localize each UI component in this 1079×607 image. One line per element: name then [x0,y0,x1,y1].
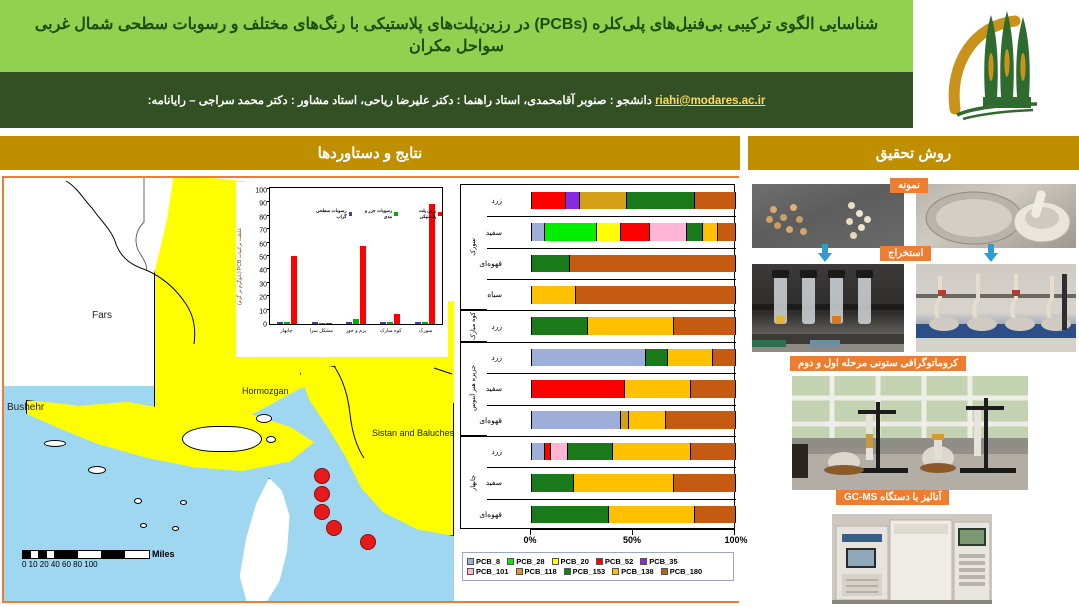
island-small-5 [134,498,142,504]
legend-label: رسوبات جزر و مدی [358,208,392,220]
stack-segment [570,255,736,273]
island-small-4 [44,440,66,447]
legend-label: PCB_153 [573,567,606,576]
barchart-plot-area: رزین پلت پلاستیکی رسوبات جزر و مدی رسوبا… [269,187,443,325]
stack-bar[interactable] [531,380,736,398]
land-qeshm-island [182,426,262,452]
ytick: 100 [255,188,267,195]
legend-label: رسوبات سطحی گراب [308,208,347,220]
method-panel: نمونه استخراج [748,176,1079,607]
stack-segment [531,349,646,367]
stack-segment [531,380,625,398]
stack-bar[interactable] [531,223,736,241]
stack-segment [650,223,687,241]
island-small-8 [172,526,179,531]
stack-row-separator [487,405,736,406]
legend-item: PCB_28 [507,557,544,566]
stack-bar[interactable] [531,192,736,210]
stack-segment [531,443,545,461]
stack-segment [580,192,627,210]
legend-item: رسوبات جزر و مدی [358,208,398,220]
flow-arrow-2 [984,244,998,262]
step-label-sample: نمونه [890,178,928,193]
stack-bar[interactable] [531,443,736,461]
legend-item: رسوبات سطحی گراب [308,208,352,220]
stack-row-label-text: قهوه‌ای [479,416,502,425]
stack-row-label-text: سیاه [487,290,502,299]
stack-row-separator [487,216,736,217]
column-chromatography-photo [792,376,1028,490]
barchart-y-ticks: 100 90 80 70 60 50 40 30 20 10 0 [245,187,267,325]
stack-row-label-text: قهوه‌ای [479,510,502,519]
stack-segment [597,223,622,241]
authors-line: riahi@modares.ac.ir دانشجو : صنوبر آقامح… [128,93,786,107]
university-logo [913,0,1079,128]
legend-item: PCB_52 [596,557,633,566]
resin-pellets-photo [752,184,904,248]
stack-row-label: سفید [461,373,505,404]
stack-row-separator [487,499,736,500]
legend-label: PCB_8 [476,557,500,566]
tarbiat-modares-logo-icon [941,5,1051,123]
title-banner: شناسایی الگوی ترکیبی بی‌فنیل‌های پلی‌کلر… [0,0,913,72]
stack-row-label-text: زرد [491,322,502,331]
stack-row-label: زرد [461,436,505,467]
stack-segment [718,223,736,241]
map-label-bushehr: Bushehr [7,402,44,413]
stack-segment [695,192,736,210]
xtick-label: سورک [408,329,443,335]
gc-ms-instrument-photo [832,514,992,604]
gcms-overlay [832,514,992,604]
ytick: 80 [259,214,267,221]
map-scale-bar: Miles 0 10 20 40 60 80 100 [22,550,162,569]
stack-row-label-text: سفید [486,384,502,393]
stack-bar[interactable] [531,506,736,524]
stack-row-label: زرد [461,185,505,216]
stack-segment [566,192,580,210]
stack-segment [531,411,621,429]
stack-row-label-text: زرد [491,353,502,362]
stack-segment [609,506,695,524]
ytick: 30 [259,281,267,288]
scale-unit-label: Miles [152,549,175,559]
xtick-label: 0% [523,535,536,545]
page-title: شناسایی الگوی ترکیبی بی‌فنیل‌های پلی‌کلر… [0,14,913,57]
ytick: 60 [259,241,267,248]
scale-segments [22,550,150,559]
poster-header: شناسایی الگوی ترکیبی بی‌فنیل‌های پلی‌کلر… [0,0,1079,128]
island-small-3 [88,466,106,474]
stack-segment [531,255,570,273]
legend-item: PCB_35 [640,557,677,566]
stack-bar[interactable] [531,411,736,429]
results-panel: Fars Bushehr Hormozgan Sistan and Baluch… [2,176,739,603]
xtick-label: چابهار [269,329,304,335]
stack-row-separator [487,467,736,468]
island-small-1 [256,414,272,423]
pellets-overlay [752,184,904,248]
stack-row-label: سفید [461,467,505,498]
stack-row-label: قهوه‌ای [461,499,505,530]
stack-row-label-text: قهوه‌ای [479,259,502,268]
legend-label: PCB_28 [516,557,544,566]
map-label-hormozgan: Hormozgan [242,386,289,396]
stack-row-label-text: سفید [486,478,502,487]
legend-label: PCB_35 [649,557,677,566]
legend-label: PCB_118 [525,567,557,576]
xtick-label: پزم و خور [339,329,374,335]
ytick: 50 [259,255,267,262]
stack-segment [531,506,609,524]
stacked-chart-legend: PCB_8 PCB_28 PCB_20 PCB_52 PCB_35 PCB_10… [462,552,734,581]
authors-banner: riahi@modares.ac.ir دانشجو : صنوبر آقامح… [0,72,913,128]
stack-segment [713,349,736,367]
stack-segment [687,223,703,241]
stack-segment [568,443,613,461]
pcb-congener-profile-chart[interactable]: سورکزردسفیدقهوه‌ایسیاهکوه مبارکزردجزیره … [456,178,739,601]
legend-label: PCB_101 [476,567,509,576]
stack-row-label: سفید [461,216,505,247]
stack-row-label-text: زرد [491,196,502,205]
stack-segment [625,380,691,398]
stack-segment [627,192,695,210]
stack-segment [629,411,666,429]
map-label-fars: Fars [92,310,112,321]
lab-bench-overlay [792,376,1028,490]
stack-segment [674,474,736,492]
stack-row-separator [487,279,736,280]
step-label-chromatography: کروماتوگرافی ستونی مرحله اول و دوم [790,356,966,371]
stack-row-label: سیاه [461,279,505,310]
stack-segment [545,223,596,241]
legend-label: PCB_138 [621,567,654,576]
authors-text: دانشجو : صنوبر آقامحمدی، استاد راهنما : … [148,95,652,107]
stack-segment [574,474,674,492]
stack-segment [531,317,588,335]
stack-segment [551,443,567,461]
study-area-map[interactable]: Fars Bushehr Hormozgan Sistan and Baluch… [4,178,454,601]
stack-segment [531,192,566,210]
step-label-extraction: استخراج [880,246,931,261]
step-label-gcms: آنالیز با دستگاه GC-MS [836,490,949,505]
legend-item: PCB_20 [552,557,589,566]
ytick: 70 [259,228,267,235]
map-label-sistan: Sistan and Baluchestan [372,428,454,438]
legend-item: PCB_153 [564,567,606,576]
xtick-label: 50% [623,535,641,545]
xtick-label: مشکل سرا [304,329,339,335]
mortar-sample-photo [916,184,1076,248]
section-header-results: نتایج و دستاوردها [0,136,740,170]
barchart-x-labels: چابهار مشکل سرا پزم و خور کوه مبارک سورک [269,329,443,335]
legend-item: PCB_118 [516,567,557,576]
extraction-tubes-photo [752,264,904,352]
sampling-site-3[interactable] [314,504,330,520]
ytick: 10 [259,308,267,315]
ytick: 20 [259,295,267,302]
legend-label: PCB_20 [561,557,589,566]
stack-segment [666,411,736,429]
island-small-7 [140,523,147,528]
ytick: 90 [259,201,267,208]
stack-segment [703,223,717,241]
legend-item: PCB_180 [661,567,703,576]
stack-bar[interactable] [531,474,736,492]
sampling-site-5[interactable] [360,534,376,550]
stack-row-label: قهوه‌ای [461,248,505,279]
island-small-6 [180,500,187,505]
stack-segment [531,223,545,241]
stack-row-label-text: سفید [486,228,502,237]
stack-row-label: زرد [461,310,505,341]
stack-segment [621,411,629,429]
stack-segment [588,317,674,335]
stack-segment [531,474,574,492]
stack-bar[interactable] [531,349,736,367]
soxhlet-glassware-photo [916,264,1076,352]
email-link[interactable]: riahi@modares.ac.ir [655,95,765,107]
legend-label: PCB_180 [670,567,703,576]
stack-segment [691,380,736,398]
flow-arrow-1 [818,244,832,262]
mortar-overlay [916,184,1076,248]
barchart-legend: رزین پلت پلاستیکی رسوبات جزر و مدی رسوبا… [308,208,442,220]
stack-row-label: زرد [461,342,505,373]
stack-bar[interactable] [531,255,736,273]
ytick: 40 [259,268,267,275]
bar-group [270,188,304,324]
legend-label: PCB_52 [605,557,633,566]
scale-numbers: 0 10 20 40 60 80 100 [22,560,162,569]
legend-item: PCB_8 [467,557,500,566]
stack-row-separator [487,248,736,249]
xtick-label: 100% [724,535,747,545]
glassware-overlay [916,264,1076,352]
legend-row: PCB_8 PCB_28 PCB_20 PCB_52 PCB_35 [467,557,729,566]
stack-segment [668,349,713,367]
stack-segment [531,286,576,304]
stack-segment [691,443,736,461]
stack-row-label-text: زرد [491,447,502,456]
stack-bar[interactable] [531,317,736,335]
stack-row-label: قهوه‌ای [461,405,505,436]
legend-item: PCB_101 [467,567,509,576]
stack-row-separator [487,373,736,374]
stack-segment [613,443,691,461]
tubes-overlay [752,264,904,352]
stack-segment [674,317,736,335]
stack-segment [695,506,736,524]
sampling-site-4[interactable] [326,520,342,536]
sampling-site-2[interactable] [314,486,330,502]
stack-segment [646,349,669,367]
legend-item: رزین پلت پلاستیکی [404,208,442,220]
stack-segment [576,286,736,304]
pcb-concentration-barchart[interactable]: غلظت ترکیبات PCB (نانوگرم بر گرم) 100 90… [236,182,448,357]
xtick-label: کوه مبارک [373,329,408,335]
stack-segment [621,223,650,241]
ytick: 0 [263,322,267,329]
legend-label: رزین پلت پلاستیکی [404,208,437,220]
stack-bar[interactable] [531,286,736,304]
legend-item: PCB_138 [612,567,654,576]
island-small-2 [266,436,276,443]
section-header-method: روش تحقیق [748,136,1079,170]
legend-row: PCB_101 PCB_118 PCB_153 PCB_138 PCB_180 [467,567,729,576]
sampling-site-1[interactable] [314,468,330,484]
stacked-plot-area: سورکزردسفیدقهوه‌ایسیاهکوه مبارکزردجزیره … [460,184,735,529]
